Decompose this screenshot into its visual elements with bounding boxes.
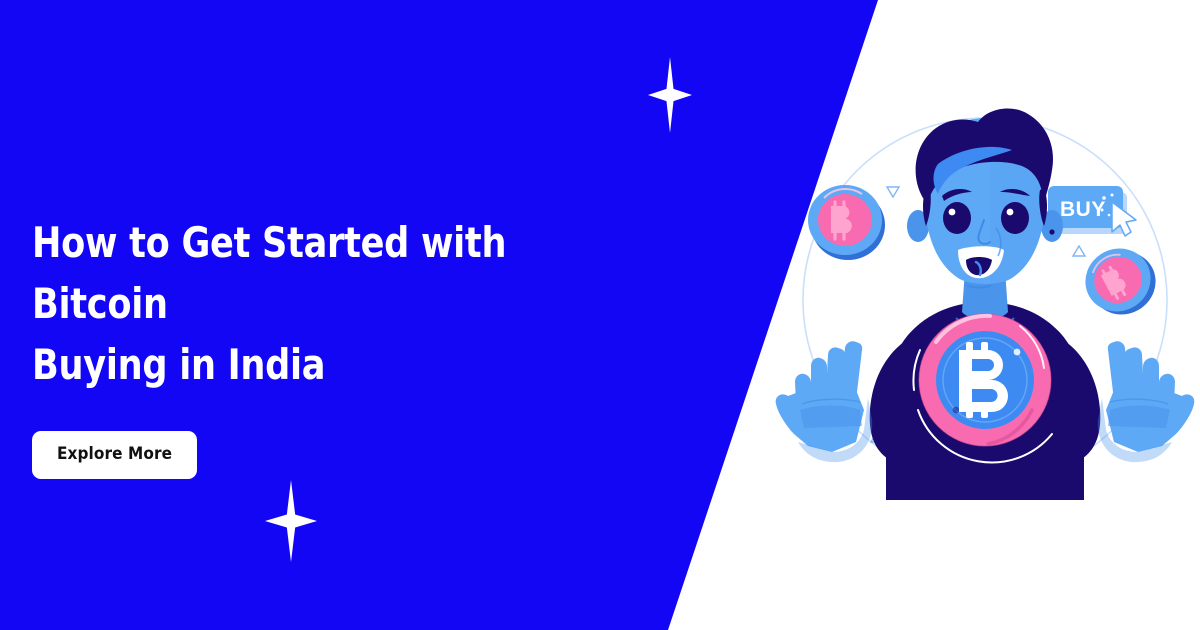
character-right-hand xyxy=(1098,341,1195,462)
character-eye-left xyxy=(943,202,971,234)
triangle-icon xyxy=(1073,246,1085,256)
bitcoin-character-illustration: BUY xyxy=(760,80,1200,550)
bitcoin-coin-left-icon xyxy=(808,185,885,260)
page-title: How to Get Started with Bitcoin Buying i… xyxy=(32,212,571,395)
buy-badge-label: BUY xyxy=(1060,198,1106,221)
triangle-icon xyxy=(887,187,899,197)
cta-container: Explore More xyxy=(32,431,612,479)
hero-content: How to Get Started with Bitcoin Buying i… xyxy=(32,212,612,479)
character-eye-right xyxy=(1001,202,1029,234)
bitcoin-coin-right-icon xyxy=(1074,236,1166,328)
character-left-hand xyxy=(776,341,873,462)
bitcoin-promo-banner: How to Get Started with Bitcoin Buying i… xyxy=(0,0,1200,630)
explore-more-button[interactable]: Explore More xyxy=(32,431,197,479)
